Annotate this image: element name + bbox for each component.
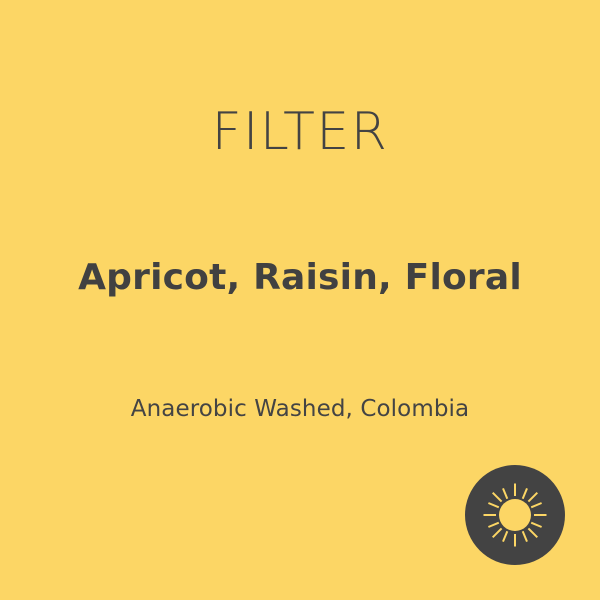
process-and-origin-subtitle: Anaerobic Washed, Colombia [0,393,600,425]
brew-method-title: FILTER [0,103,600,161]
sun-icon [465,465,565,565]
coffee-bag-label: FILTER Apricot, Raisin, Floral Anaerobic… [0,0,600,600]
tasting-notes-heading: Apricot, Raisin, Floral [0,255,600,301]
sun-badge [465,465,565,565]
